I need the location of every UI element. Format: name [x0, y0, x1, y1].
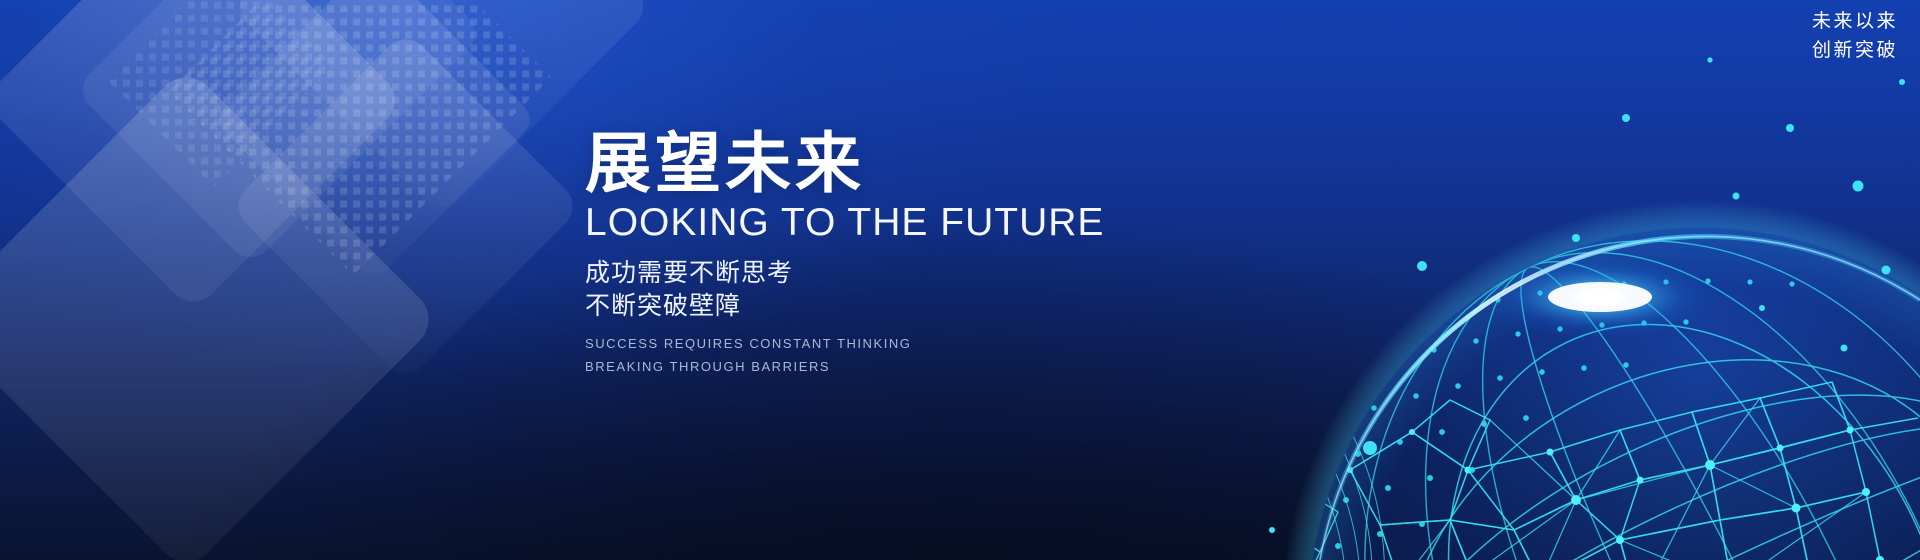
subtitle-en-line-2: BREAKING THROUGH BARRIERS: [585, 356, 1225, 379]
subtitle-en-line-1: SUCCESS REQUIRES CONSTANT THINKING: [585, 333, 1225, 356]
promo-banner: 展望未来 LOOKING TO THE FUTURE 成功需要不断思考 不断突破…: [0, 0, 1920, 560]
page-title: 展望未来: [585, 128, 1225, 199]
floating-particles: [1269, 57, 1905, 533]
subtitle-en-block: SUCCESS REQUIRES CONSTANT THINKING BREAK…: [585, 333, 1225, 379]
corner-slogan: 未来以来 创新突破: [1812, 8, 1898, 66]
subtitle-cn-line-2: 不断突破壁障: [585, 290, 1225, 323]
subtitle-cn-line-1: 成功需要不断思考: [585, 257, 1225, 290]
headline-block: 展望未来 LOOKING TO THE FUTURE 成功需要不断思考 不断突破…: [585, 128, 1225, 378]
corner-slogan-line-1: 未来以来: [1812, 8, 1898, 37]
page-title-english: LOOKING TO THE FUTURE: [585, 201, 1225, 245]
corner-slogan-line-2: 创新突破: [1812, 37, 1898, 66]
globe-rim-light-flare: [1480, 255, 1720, 339]
